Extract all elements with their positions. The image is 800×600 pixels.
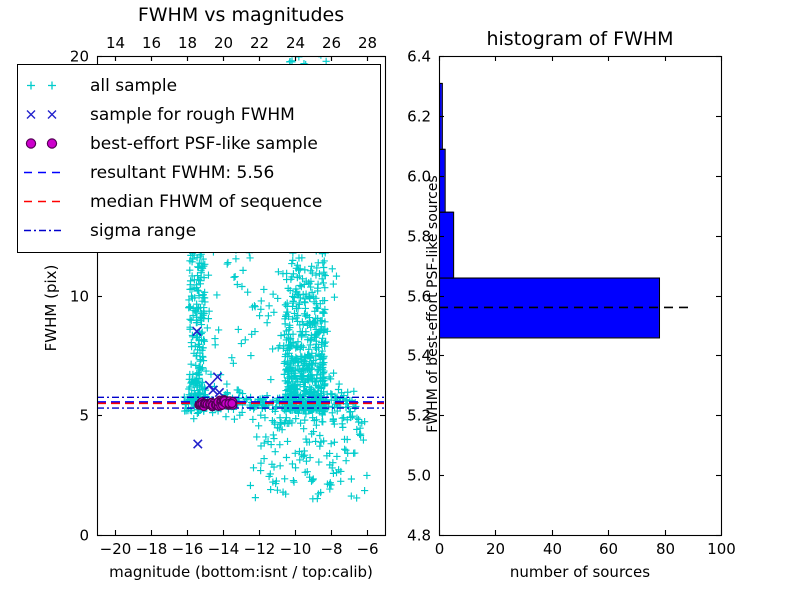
legend-marker-dashdot-icon	[18, 216, 90, 245]
right-plot-title: histogram of FWHM	[439, 28, 721, 50]
legend-item-resultant-fwhm: resultant FWHM: 5.56	[18, 158, 380, 187]
legend-label: resultant FWHM: 5.56	[90, 163, 274, 183]
left-x-axis-label: magnitude (bottom:isnt / top:calib)	[97, 563, 385, 581]
legend-item-median-fwhm: median FHWM of sequence	[18, 187, 380, 216]
legend-label: all sample	[90, 76, 177, 96]
left-plot-title: FWHM vs magnitudes	[97, 4, 385, 26]
right-x-axis-label: number of sources	[439, 563, 721, 581]
legend-item-sigma-range: sigma range	[18, 216, 380, 245]
right-y-axis-label: FWHM of best-effort PSF-like sources	[425, 159, 441, 449]
legend-marker-dashed-red-icon	[18, 187, 90, 216]
legend-box: all sample sample for rough FWHM best-ef…	[17, 64, 381, 253]
legend-label: best-effort PSF-like sample	[90, 134, 318, 154]
legend-marker-plus-icon	[18, 71, 90, 100]
legend-marker-dashed-blue-icon	[18, 158, 90, 187]
legend-marker-dot-icon	[18, 129, 90, 158]
legend-item-all-sample: all sample	[18, 71, 380, 100]
legend-label: sample for rough FWHM	[90, 105, 295, 125]
legend-item-psf-like: best-effort PSF-like sample	[18, 129, 380, 158]
legend-label: sigma range	[90, 221, 196, 241]
legend-marker-cross-icon	[18, 100, 90, 129]
legend-item-rough-fwhm: sample for rough FWHM	[18, 100, 380, 129]
legend-label: median FHWM of sequence	[90, 192, 322, 212]
